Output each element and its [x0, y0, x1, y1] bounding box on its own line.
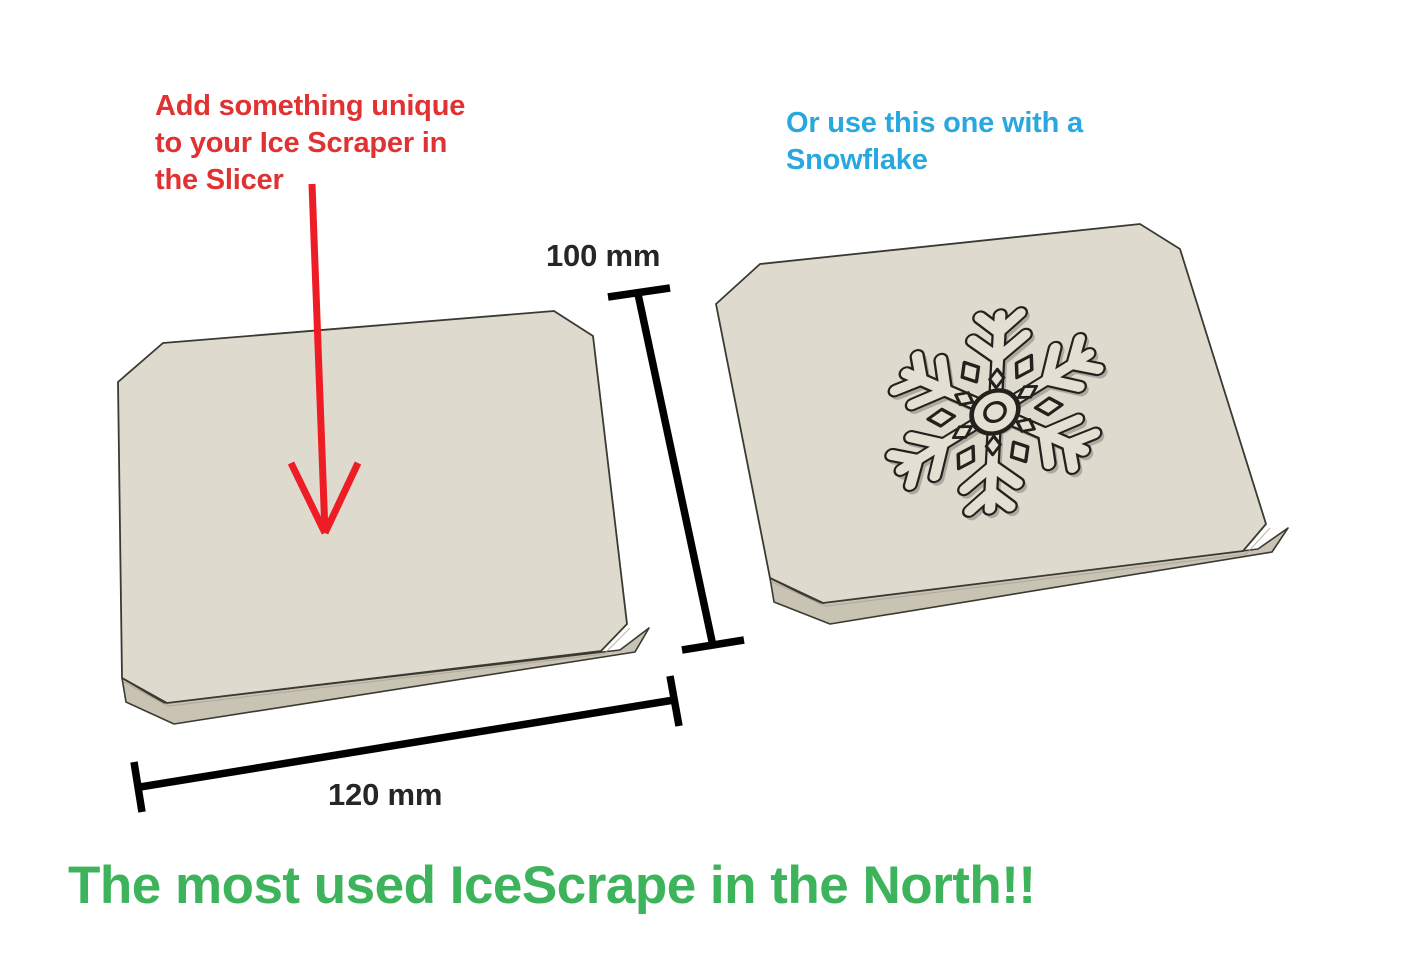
annotation-red-note: Add something unique to your Ice Scraper… [155, 88, 525, 199]
dim-v-tick-bottom [682, 640, 744, 650]
dim-h-tick-right [670, 676, 679, 726]
dimension-horizontal-label: 120 mm [328, 775, 442, 815]
dim-v-tick-top [608, 288, 670, 297]
right-scraper-plate [716, 224, 1288, 624]
dim-h-tick-left [134, 762, 142, 812]
left-plate-top-face [118, 311, 627, 703]
illustration-canvas: Add something unique to your Ice Scraper… [0, 0, 1416, 957]
tagline-text: The most used IceScrape in the North!! [68, 852, 1036, 920]
dimension-vertical-label: 100 mm [546, 236, 660, 276]
left-scraper-plate [118, 311, 649, 724]
dim-v-line [638, 294, 713, 646]
annotation-blue-note: Or use this one with a Snowflake [786, 105, 1146, 179]
